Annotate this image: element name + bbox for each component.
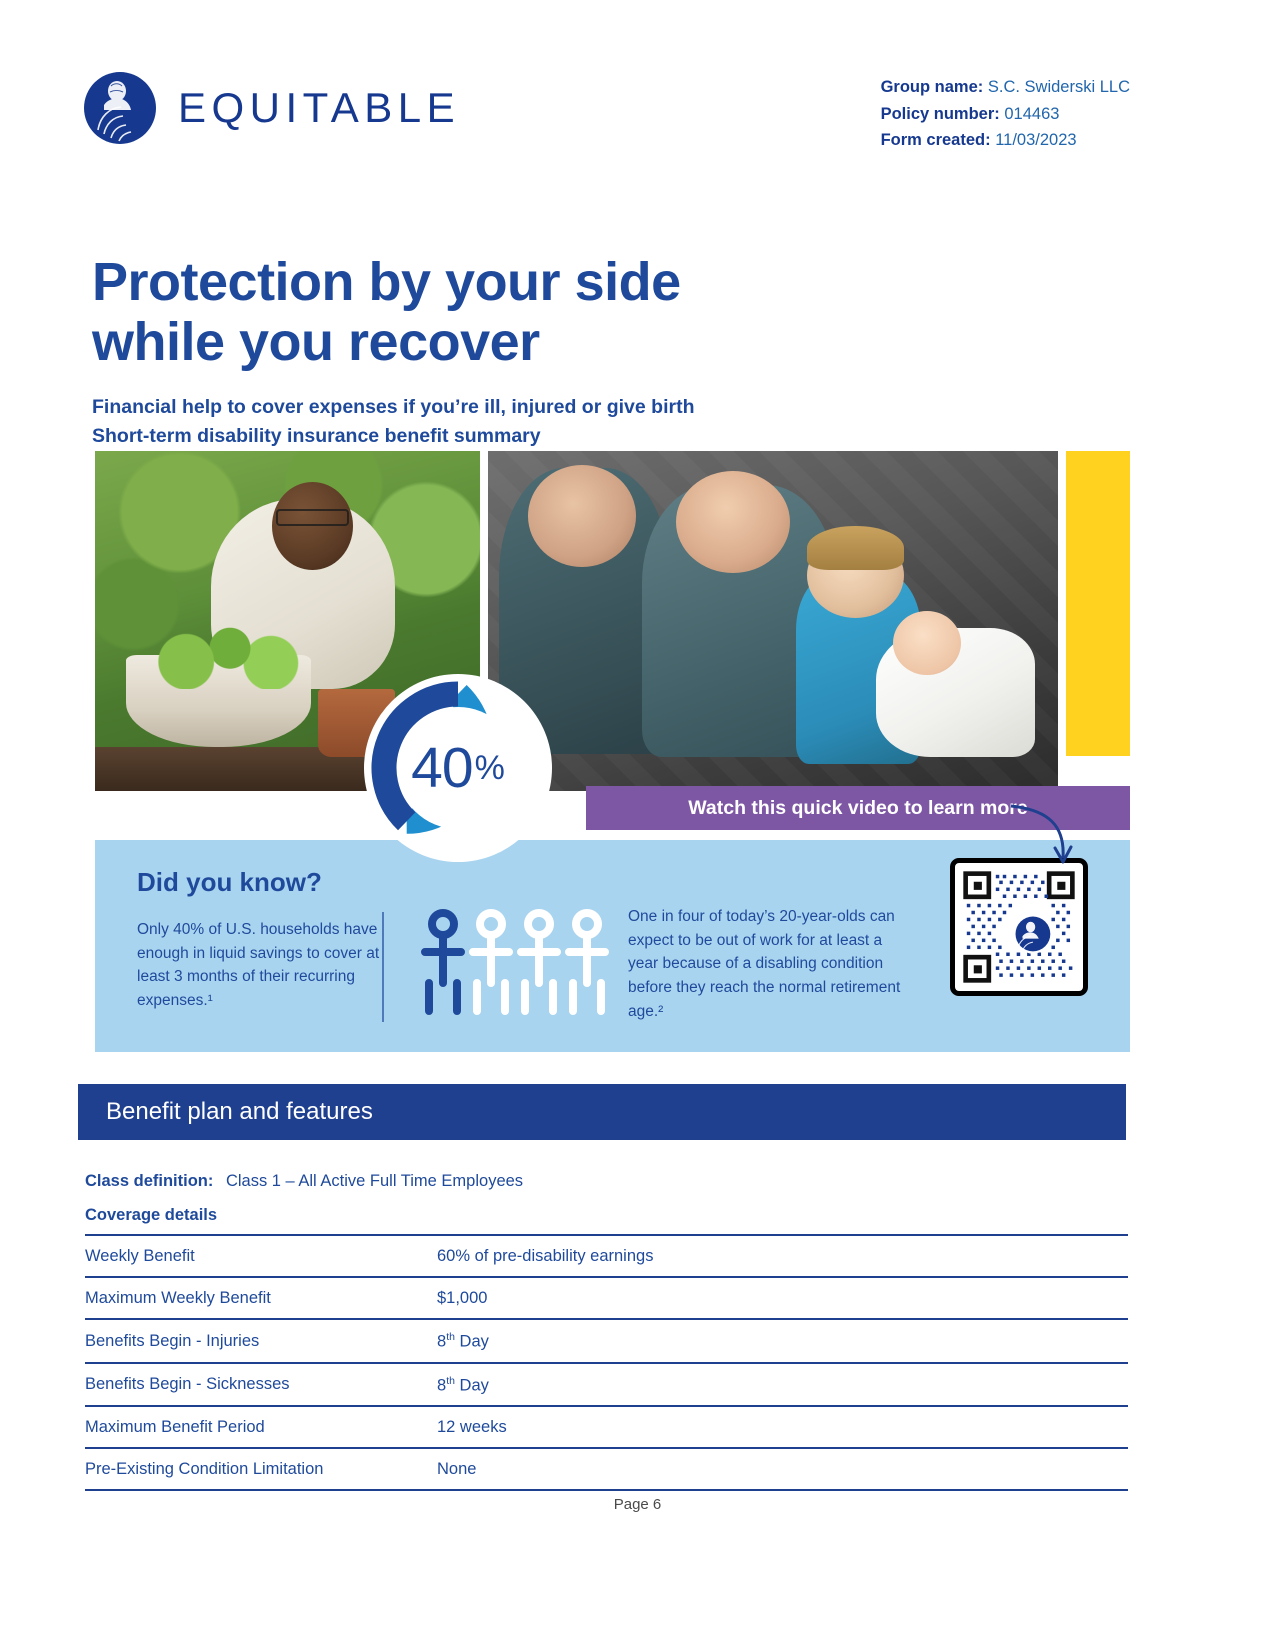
table-row: Benefits Begin - Sicknesses 8th Day [85, 1363, 1128, 1407]
table-row: Benefits Begin - Injuries 8th Day [85, 1319, 1128, 1363]
page-subtitle: Financial help to cover expenses if you’… [92, 393, 892, 451]
row-value-number: 8 [437, 1333, 446, 1351]
class-definition-value: Class 1 – All Active Full Time Employees [226, 1172, 523, 1190]
qr-code-icon[interactable] [950, 858, 1088, 996]
row-value-ordinal: th [446, 1375, 455, 1387]
four-people-icon [417, 908, 617, 1021]
row-value: 8th Day [437, 1319, 1128, 1363]
row-value: None [437, 1448, 1128, 1490]
row-value-ordinal: th [446, 1331, 455, 1343]
table-row: Weekly Benefit 60% of pre-disability ear… [85, 1235, 1128, 1277]
yellow-accent-bar [1066, 451, 1130, 756]
table-row: Maximum Benefit Period 12 weeks [85, 1406, 1128, 1448]
subhead-line-2: Short-term disability insurance benefit … [92, 422, 892, 451]
hero-image-band [95, 451, 1130, 791]
table-row: Pre-Existing Condition Limitation None [85, 1448, 1128, 1490]
panel-divider [382, 912, 384, 1022]
brand-wordmark: EQUITABLE [178, 84, 460, 132]
headline-line-2: while you recover [92, 312, 872, 372]
people-figures-svg [417, 908, 617, 1016]
policy-meta: Group name: S.C. Swiderski LLC Policy nu… [881, 74, 1130, 154]
qr-code-svg [961, 869, 1077, 985]
watch-video-banner[interactable]: Watch this quick video to learn more [586, 786, 1130, 830]
table-row: Maximum Weekly Benefit $1,000 [85, 1277, 1128, 1319]
page-title: Protection by your side while you recove… [92, 252, 872, 373]
class-definition-label: Class definition: [85, 1172, 213, 1190]
page-footer: Page 6 [0, 1496, 1275, 1513]
row-value: 60% of pre-disability earnings [437, 1235, 1128, 1277]
benefit-plan-section-header: Benefit plan and features [78, 1084, 1126, 1140]
row-value: $1,000 [437, 1277, 1128, 1319]
disability-fact-text: One in four of today’s 20-year-olds can … [628, 905, 908, 1024]
did-you-know-title: Did you know? [137, 867, 322, 898]
group-name-label: Group name: [881, 78, 984, 96]
page-header: EQUITABLE Group name: S.C. Swiderski LLC… [0, 62, 1275, 162]
row-label: Pre-Existing Condition Limitation [85, 1448, 437, 1490]
row-value-unit: Day [455, 1333, 489, 1351]
coverage-details-table: Weekly Benefit 60% of pre-disability ear… [85, 1234, 1128, 1491]
page-number: Page 6 [614, 1496, 662, 1513]
class-definition: Class definition: Class 1 – All Active F… [85, 1172, 523, 1191]
watch-video-label: Watch this quick video to learn more [688, 797, 1028, 820]
group-name-value: S.C. Swiderski LLC [988, 78, 1130, 96]
meta-policy-number: Policy number: 014463 [881, 101, 1130, 128]
row-value: 12 weeks [437, 1406, 1128, 1448]
coverage-details-title: Coverage details [85, 1206, 217, 1225]
row-value-number: 8 [437, 1376, 446, 1394]
row-label: Weekly Benefit [85, 1235, 437, 1277]
savings-donut-chart: 40 % [362, 672, 554, 864]
form-created-value: 11/03/2023 [995, 131, 1076, 149]
family-with-newborn-photo [488, 451, 1058, 791]
meta-form-created: Form created: 11/03/2023 [881, 127, 1130, 154]
row-label: Benefits Begin - Sicknesses [85, 1363, 437, 1407]
equitable-emblem-icon [84, 72, 156, 144]
row-label: Benefits Begin - Injuries [85, 1319, 437, 1363]
row-value-unit: Day [455, 1376, 489, 1394]
policy-number-label: Policy number: [881, 105, 1000, 123]
row-value: 8th Day [437, 1363, 1128, 1407]
donut-percent-symbol: % [475, 749, 505, 788]
donut-center-value: 40 % [362, 672, 554, 864]
row-label: Maximum Weekly Benefit [85, 1277, 437, 1319]
donut-number: 40 [411, 735, 472, 801]
policy-number-value: 014463 [1004, 105, 1059, 123]
meta-group-name: Group name: S.C. Swiderski LLC [881, 74, 1130, 101]
form-created-label: Form created: [881, 131, 991, 149]
did-you-know-panel: Did you know? Only 40% of U.S. household… [95, 840, 1130, 1052]
subhead-line-1: Financial help to cover expenses if you’… [92, 393, 892, 422]
row-label: Maximum Benefit Period [85, 1406, 437, 1448]
benefit-plan-title: Benefit plan and features [78, 1098, 373, 1126]
did-you-know-stat-text: Only 40% of U.S. households have enough … [137, 918, 387, 1013]
headline-line-1: Protection by your side [92, 252, 872, 312]
brand-logo: EQUITABLE [84, 72, 460, 144]
